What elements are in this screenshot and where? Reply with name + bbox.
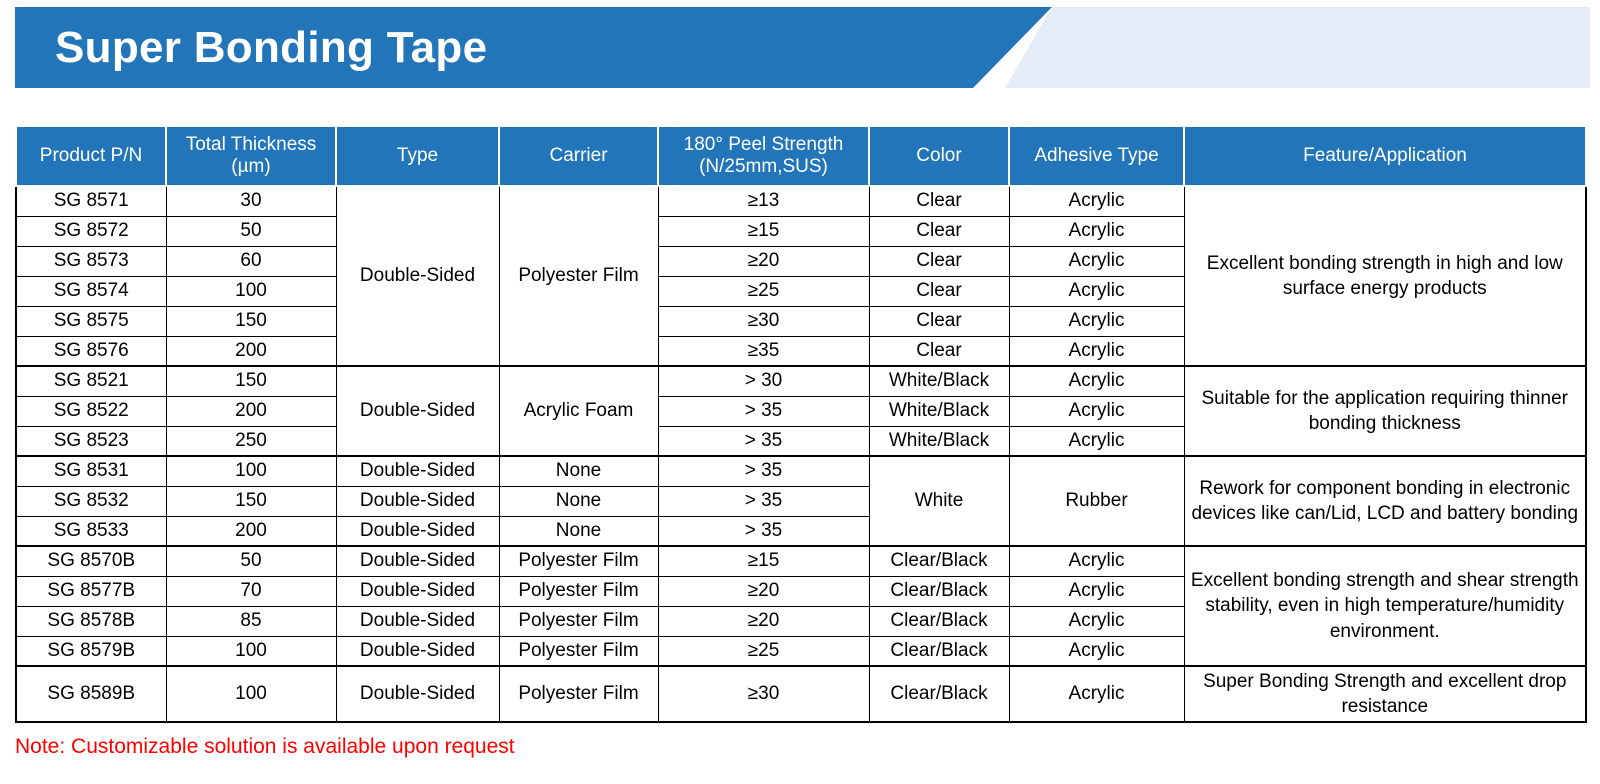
table-body: SG 8571 30 Double-Sided Polyester Film ≥…: [16, 186, 1586, 722]
cell-color: Clear/Black: [869, 576, 1009, 606]
cell-color-merged: White: [869, 456, 1009, 546]
cell-color: White/Black: [869, 366, 1009, 396]
cell-carrier: Polyester Film: [499, 576, 658, 606]
spec-table-container: Product P/N Total Thickness (µm) Type Ca…: [15, 125, 1585, 723]
product-spec-table: Product P/N Total Thickness (µm) Type Ca…: [15, 125, 1587, 723]
cell-type: Double-Sided: [336, 546, 499, 576]
cell-product-pn: SG 8523: [16, 426, 166, 456]
cell-color: Clear/Black: [869, 546, 1009, 576]
cell-color: Clear: [869, 306, 1009, 336]
cell-adhesive: Acrylic: [1009, 636, 1184, 666]
page-title: Super Bonding Tape: [55, 7, 487, 88]
cell-adhesive: Acrylic: [1009, 306, 1184, 336]
cell-peel-strength: ≥15: [658, 546, 869, 576]
cell-color: Clear: [869, 186, 1009, 216]
cell-color: Clear/Black: [869, 636, 1009, 666]
cell-thickness: 100: [166, 636, 336, 666]
cell-peel-strength: > 35: [658, 426, 869, 456]
header-carrier: Carrier: [499, 126, 658, 186]
cell-type: Double-Sided: [336, 606, 499, 636]
cell-feature-application: Suitable for the application requiring t…: [1184, 366, 1586, 456]
cell-feature-application: Super Bonding Strength and excellent dro…: [1184, 666, 1586, 722]
cell-carrier: None: [499, 516, 658, 546]
cell-product-pn: SG 8532: [16, 486, 166, 516]
cell-product-pn: SG 8533: [16, 516, 166, 546]
cell-feature-application: Excellent bonding strength and shear str…: [1184, 546, 1586, 666]
cell-peel-strength: ≥13: [658, 186, 869, 216]
table-row: SG 8531 100 Double-Sided None > 35 White…: [16, 456, 1586, 486]
cell-thickness: 150: [166, 486, 336, 516]
cell-product-pn: SG 8577B: [16, 576, 166, 606]
table-row: SG 8571 30 Double-Sided Polyester Film ≥…: [16, 186, 1586, 216]
cell-peel-strength: ≥25: [658, 276, 869, 306]
cell-product-pn: SG 8574: [16, 276, 166, 306]
cell-adhesive: Acrylic: [1009, 366, 1184, 396]
cell-peel-strength: > 35: [658, 396, 869, 426]
header-thickness-line2: (µm): [171, 156, 331, 178]
header-adhesive-type: Adhesive Type: [1009, 126, 1184, 186]
cell-carrier-merged: Polyester Film: [499, 186, 658, 366]
cell-thickness: 50: [166, 546, 336, 576]
cell-product-pn: SG 8570B: [16, 546, 166, 576]
cell-product-pn: SG 8531: [16, 456, 166, 486]
cell-feature-application: Excellent bonding strength in high and l…: [1184, 186, 1586, 366]
cell-adhesive: Acrylic: [1009, 186, 1184, 216]
cell-adhesive: Acrylic: [1009, 396, 1184, 426]
cell-adhesive-merged: Rubber: [1009, 456, 1184, 546]
table-row: SG 8589B 100 Double-Sided Polyester Film…: [16, 666, 1586, 722]
cell-peel-strength: ≥35: [658, 336, 869, 366]
cell-carrier-merged: Acrylic Foam: [499, 366, 658, 456]
cell-type: Double-Sided: [336, 576, 499, 606]
cell-type-merged: Double-Sided: [336, 366, 499, 456]
cell-peel-strength: ≥15: [658, 216, 869, 246]
cell-adhesive: Acrylic: [1009, 606, 1184, 636]
cell-peel-strength: ≥20: [658, 576, 869, 606]
cell-product-pn: SG 8573: [16, 246, 166, 276]
cell-peel-strength: ≥30: [658, 666, 869, 722]
cell-type-merged: Double-Sided: [336, 186, 499, 366]
cell-thickness: 70: [166, 576, 336, 606]
cell-peel-strength: > 35: [658, 456, 869, 486]
cell-adhesive: Acrylic: [1009, 426, 1184, 456]
header-feature-application: Feature/Application: [1184, 126, 1586, 186]
footnote-customizable: Note: Customizable solution is available…: [15, 735, 515, 759]
cell-thickness: 30: [166, 186, 336, 216]
table-row: SG 8521 150 Double-Sided Acrylic Foam > …: [16, 366, 1586, 396]
cell-type: Double-Sided: [336, 486, 499, 516]
cell-color: Clear/Black: [869, 606, 1009, 636]
cell-peel-strength: > 35: [658, 516, 869, 546]
cell-thickness: 200: [166, 396, 336, 426]
cell-thickness: 50: [166, 216, 336, 246]
cell-peel-strength: ≥20: [658, 246, 869, 276]
header-peel-strength: 180° Peel Strength (N/25mm,SUS): [658, 126, 869, 186]
cell-thickness: 100: [166, 456, 336, 486]
cell-carrier: Polyester Film: [499, 666, 658, 722]
header-color: Color: [869, 126, 1009, 186]
cell-product-pn: SG 8576: [16, 336, 166, 366]
cell-thickness: 150: [166, 366, 336, 396]
header-type: Type: [336, 126, 499, 186]
cell-thickness: 250: [166, 426, 336, 456]
header-peel-line2: (N/25mm,SUS): [663, 156, 864, 178]
cell-peel-strength: ≥30: [658, 306, 869, 336]
header-thickness-line1: Total Thickness: [171, 134, 331, 156]
cell-product-pn: SG 8578B: [16, 606, 166, 636]
cell-product-pn: SG 8572: [16, 216, 166, 246]
header-total-thickness: Total Thickness (µm): [166, 126, 336, 186]
cell-thickness: 60: [166, 246, 336, 276]
cell-peel-strength: ≥20: [658, 606, 869, 636]
cell-type: Double-Sided: [336, 636, 499, 666]
cell-peel-strength: ≥25: [658, 636, 869, 666]
cell-thickness: 100: [166, 276, 336, 306]
cell-carrier: None: [499, 456, 658, 486]
cell-thickness: 150: [166, 306, 336, 336]
cell-type: Double-Sided: [336, 666, 499, 722]
cell-color: White/Black: [869, 396, 1009, 426]
table-row: SG 8570B 50 Double-Sided Polyester Film …: [16, 546, 1586, 576]
header-product-pn: Product P/N: [16, 126, 166, 186]
cell-thickness: 85: [166, 606, 336, 636]
header-peel-line1: 180° Peel Strength: [663, 134, 864, 156]
cell-color: Clear: [869, 246, 1009, 276]
cell-color: Clear: [869, 276, 1009, 306]
cell-product-pn: SG 8571: [16, 186, 166, 216]
cell-adhesive: Acrylic: [1009, 546, 1184, 576]
cell-adhesive: Acrylic: [1009, 216, 1184, 246]
banner-light-accent: [1005, 7, 1590, 88]
cell-product-pn: SG 8575: [16, 306, 166, 336]
cell-color: Clear: [869, 336, 1009, 366]
cell-color: White/Black: [869, 426, 1009, 456]
cell-product-pn: SG 8589B: [16, 666, 166, 722]
cell-product-pn: SG 8521: [16, 366, 166, 396]
cell-adhesive: Acrylic: [1009, 666, 1184, 722]
cell-carrier: None: [499, 486, 658, 516]
cell-product-pn: SG 8522: [16, 396, 166, 426]
cell-carrier: Polyester Film: [499, 636, 658, 666]
cell-thickness: 200: [166, 516, 336, 546]
cell-thickness: 200: [166, 336, 336, 366]
cell-adhesive: Acrylic: [1009, 576, 1184, 606]
cell-carrier: Polyester Film: [499, 546, 658, 576]
cell-peel-strength: > 35: [658, 486, 869, 516]
cell-carrier: Polyester Film: [499, 606, 658, 636]
cell-type: Double-Sided: [336, 516, 499, 546]
table-header-row: Product P/N Total Thickness (µm) Type Ca…: [16, 126, 1586, 186]
cell-color: Clear/Black: [869, 666, 1009, 722]
cell-feature-application: Rework for component bonding in electron…: [1184, 456, 1586, 546]
cell-product-pn: SG 8579B: [16, 636, 166, 666]
cell-adhesive: Acrylic: [1009, 276, 1184, 306]
page-banner: Super Bonding Tape: [15, 7, 1590, 88]
cell-thickness: 100: [166, 666, 336, 722]
cell-peel-strength: > 30: [658, 366, 869, 396]
cell-adhesive: Acrylic: [1009, 336, 1184, 366]
cell-color: Clear: [869, 216, 1009, 246]
cell-type: Double-Sided: [336, 456, 499, 486]
cell-adhesive: Acrylic: [1009, 246, 1184, 276]
